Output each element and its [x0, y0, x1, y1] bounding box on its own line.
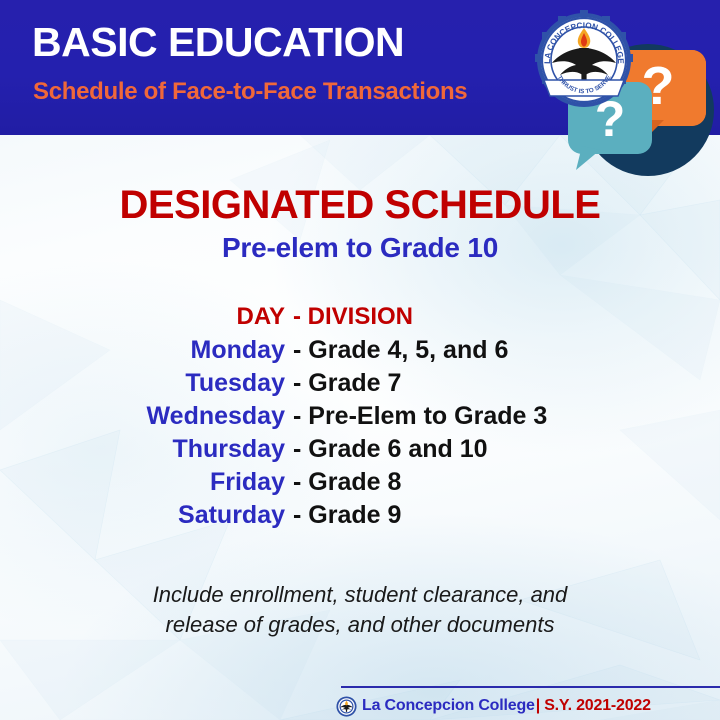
table-row: Tuesday - Grade 7 [0, 371, 720, 404]
poster-canvas: BASIC EDUCATION Schedule of Face-to-Face… [0, 0, 720, 720]
schedule-day: Monday [127, 338, 293, 363]
schedule-division: - Grade 6 and 10 [293, 437, 593, 462]
page-title: DESIGNATED SCHEDULE [0, 185, 720, 225]
footer: La Concepcion College | S.Y. 2021-2022 [336, 694, 720, 718]
schedule-header-division: - DIVISION [293, 305, 593, 329]
schedule-day: Tuesday [127, 371, 293, 396]
schedule-day: Wednesday [127, 404, 293, 429]
college-seal-icon: LA CONCEPCION COLLEGE 1998 OUR THRUST IS… [530, 8, 638, 116]
schedule-day: Thursday [127, 437, 293, 462]
footer-divider [341, 686, 720, 688]
college-seal-small-icon [336, 696, 357, 717]
table-row: Thursday - Grade 6 and 10 [0, 437, 720, 470]
schedule-note-line-2: release of grades, and other documents [0, 610, 720, 640]
table-row: Wednesday - Pre-Elem to Grade 3 [0, 404, 720, 437]
footer-separator: | [536, 697, 540, 715]
header-title: BASIC EDUCATION [32, 22, 404, 63]
footer-college-name: La Concepcion College [362, 697, 535, 715]
schedule-division: - Grade 9 [293, 503, 593, 528]
table-row: Friday - Grade 8 [0, 470, 720, 503]
schedule-header-day: DAY [127, 305, 293, 329]
schedule-division: - Grade 4, 5, and 6 [293, 338, 593, 363]
schedule-day: Saturday [127, 503, 293, 528]
schedule-header-row: DAY - DIVISION [0, 305, 720, 338]
page-subtitle: Pre-elem to Grade 10 [0, 234, 720, 262]
schedule-division: - Grade 7 [293, 371, 593, 396]
footer-school-year: S.Y. 2021-2022 [544, 697, 651, 715]
schedule-division: - Grade 8 [293, 470, 593, 495]
schedule-day: Friday [127, 470, 293, 495]
header-subtitle: Schedule of Face-to-Face Transactions [33, 80, 467, 104]
schedule-table: DAY - DIVISION Monday - Grade 4, 5, and … [0, 305, 720, 536]
table-row: Saturday - Grade 9 [0, 503, 720, 536]
schedule-division: - Pre-Elem to Grade 3 [293, 404, 593, 429]
schedule-note: Include enrollment, student clearance, a… [0, 580, 720, 639]
table-row: Monday - Grade 4, 5, and 6 [0, 338, 720, 371]
schedule-note-line-1: Include enrollment, student clearance, a… [0, 580, 720, 610]
